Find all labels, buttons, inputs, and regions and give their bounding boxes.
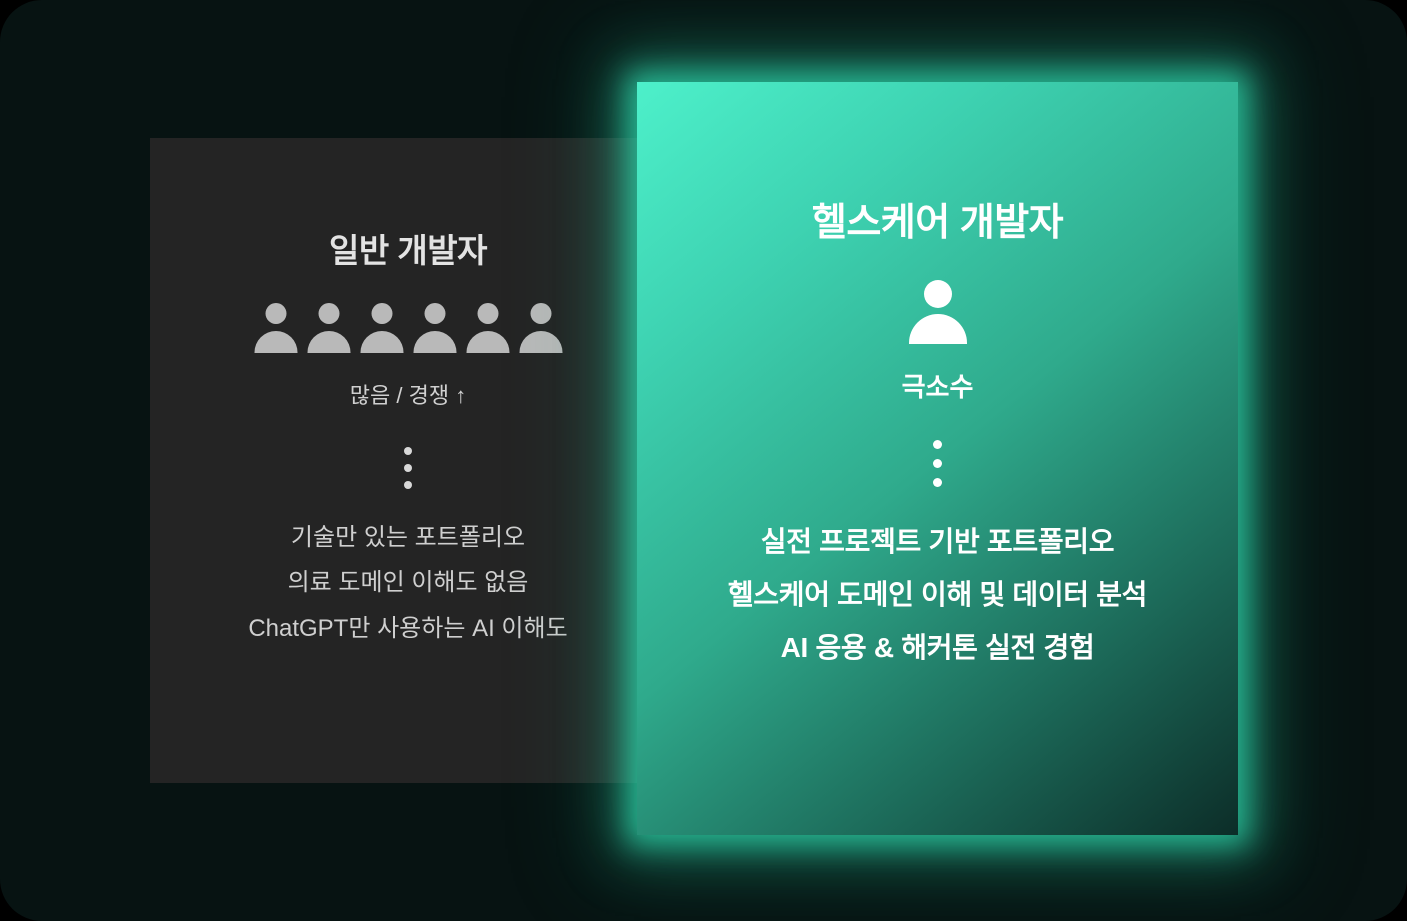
right-card-caption: 극소수 bbox=[902, 374, 974, 400]
person-icon-head bbox=[265, 303, 286, 324]
person-icon-head bbox=[318, 303, 339, 324]
list-item: 실전 프로젝트 기반 포트폴리오 bbox=[761, 527, 1114, 558]
ellipsis-dot bbox=[404, 464, 412, 472]
person-icon-head bbox=[924, 280, 952, 308]
ellipsis-dot bbox=[404, 481, 412, 489]
person-icon-head bbox=[530, 303, 551, 324]
person-icon-head bbox=[424, 303, 445, 324]
vertical-ellipsis-icon bbox=[933, 440, 942, 487]
left-card-people-icon-group bbox=[253, 303, 564, 353]
ellipsis-dot bbox=[933, 459, 942, 468]
person-icon-body bbox=[466, 331, 509, 353]
person-icon bbox=[253, 303, 299, 353]
left-card-title: 일반 개발자 bbox=[329, 234, 487, 267]
ellipsis-dot bbox=[933, 478, 942, 487]
comparison-card-healthcare-developer[interactable]: 헬스케어 개발자 극소수 실전 프로젝트 기반 포트폴리오 헬스케어 도메인 이… bbox=[637, 82, 1238, 835]
vertical-ellipsis-icon bbox=[404, 447, 412, 489]
list-item: 헬스케어 도메인 이해 및 데이터 분석 bbox=[728, 580, 1147, 611]
left-card-content: 일반 개발자 bbox=[150, 138, 666, 783]
right-card-content: 헬스케어 개발자 극소수 실전 프로젝트 기반 포트폴리오 헬스케어 도메인 이… bbox=[637, 82, 1238, 835]
screenshot-stage: 일반 개발자 bbox=[0, 0, 1407, 921]
person-icon-body bbox=[360, 331, 403, 353]
person-icon-body bbox=[519, 331, 562, 353]
list-item: 의료 도메인 이해도 없음 bbox=[288, 570, 529, 596]
list-item: 기술만 있는 포트폴리오 bbox=[291, 525, 525, 551]
person-icon-body bbox=[909, 314, 967, 344]
comparison-card-generic-developer[interactable]: 일반 개발자 bbox=[150, 138, 666, 783]
person-icon-body bbox=[254, 331, 297, 353]
person-icon bbox=[518, 303, 564, 353]
person-icon bbox=[412, 303, 458, 353]
person-icon bbox=[907, 280, 969, 344]
person-icon-head bbox=[371, 303, 392, 324]
canvas: 일반 개발자 bbox=[0, 0, 1407, 921]
person-icon bbox=[306, 303, 352, 353]
left-card-caption: 많음 / 경쟁 ↑ bbox=[350, 385, 466, 407]
ellipsis-dot bbox=[933, 440, 942, 449]
person-icon bbox=[465, 303, 511, 353]
list-item: AI 응용 & 해커톤 실전 경험 bbox=[781, 633, 1095, 664]
person-icon-body bbox=[413, 331, 456, 353]
left-card-list: 기술만 있는 포트폴리오 의료 도메인 이해도 없음 ChatGPT만 사용하는… bbox=[248, 525, 567, 642]
list-item: ChatGPT만 사용하는 AI 이해도 bbox=[248, 616, 567, 642]
person-icon-body bbox=[307, 331, 350, 353]
right-card-title: 헬스케어 개발자 bbox=[812, 204, 1063, 242]
right-card-list: 실전 프로젝트 기반 포트폴리오 헬스케어 도메인 이해 및 데이터 분석 AI… bbox=[728, 527, 1147, 663]
person-icon bbox=[359, 303, 405, 353]
person-icon-head bbox=[477, 303, 498, 324]
ellipsis-dot bbox=[404, 447, 412, 455]
